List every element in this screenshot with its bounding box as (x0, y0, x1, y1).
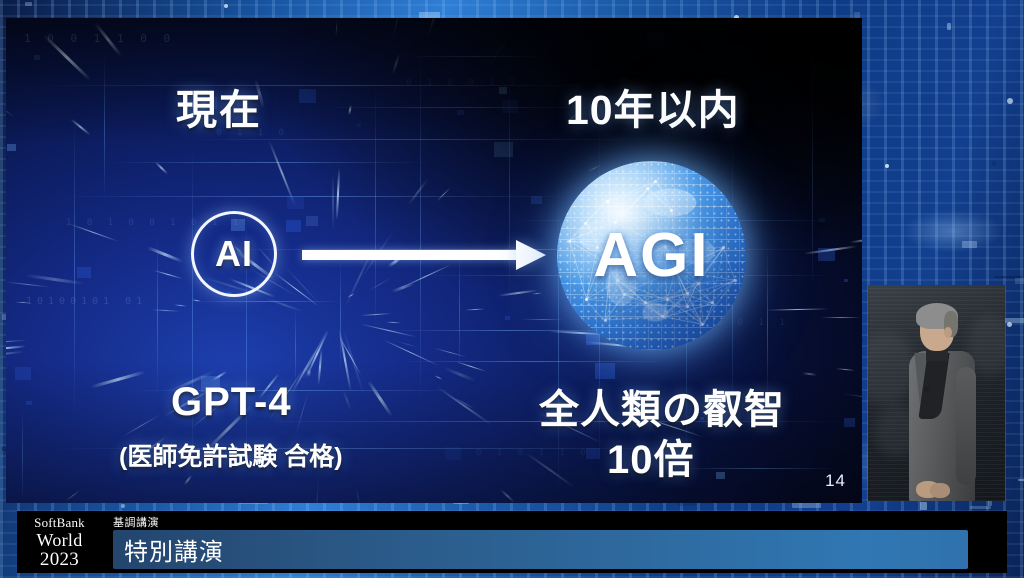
progression-arrow-icon (302, 246, 546, 263)
screenshot-stage: 1 0 0 1 1 0 01 0 1 0 0 1 0 1 110100101 0… (0, 0, 1024, 578)
presenter-lapel-mic-icon (924, 387, 929, 392)
ai-node-label: AI (215, 236, 253, 272)
arrow-head (516, 240, 546, 270)
caption-medical-exam: (医師免許試験 合格) (119, 437, 343, 473)
arrow-shaft (302, 250, 518, 260)
heading-present: 現在 (176, 76, 262, 136)
caption-gpt4: GPT-4 (171, 380, 292, 425)
slide-page-number: 14 (825, 471, 846, 491)
lower-third-banner: SoftBank World 2023 基調講演 特別講演 (17, 511, 1007, 573)
logo-line-year: 2023 (40, 550, 79, 569)
wall-blob (868, 333, 914, 403)
presentation-slide: 1 0 0 1 1 0 01 0 1 0 0 1 0 1 110100101 0… (6, 18, 862, 503)
presenter-arm (956, 367, 976, 485)
logo-line-softbank: SoftBank (34, 516, 85, 529)
session-title: 特別講演 (124, 532, 224, 567)
agi-globe: AGI (557, 161, 746, 350)
agi-label: AGI (557, 161, 746, 350)
logo-line-world: World (36, 531, 82, 549)
heading-within-ten-years: 10年以内 (566, 76, 740, 136)
presenter-video-inset (868, 285, 1005, 501)
presenter-hand (930, 483, 950, 498)
softbank-world-logo: SoftBank World 2023 (22, 513, 97, 571)
caption-ten-times: 10倍 (607, 427, 695, 485)
presenter-ear (944, 327, 952, 338)
session-kicker: 基調講演 (113, 514, 159, 530)
session-title-bar: 特別講演 (113, 530, 968, 569)
ai-node-circle: AI (191, 211, 277, 297)
